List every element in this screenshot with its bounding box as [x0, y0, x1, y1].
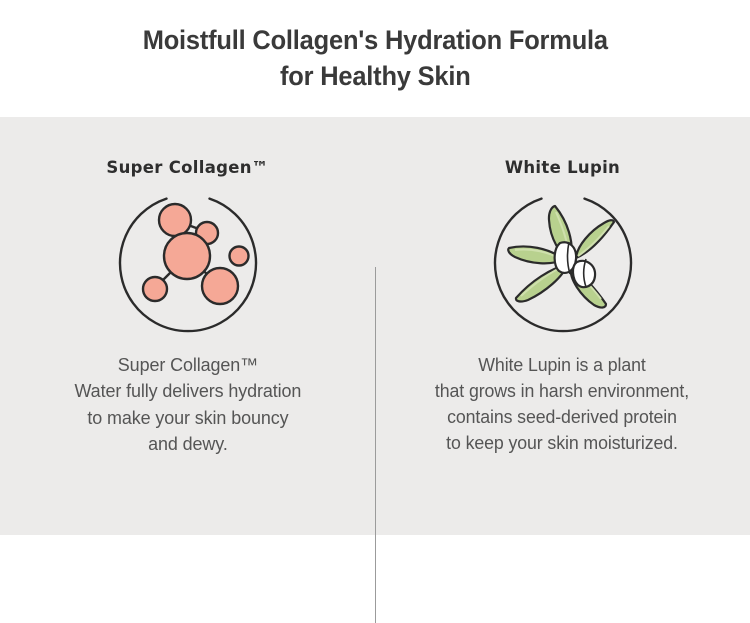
header-section: Moistfull Collagen's Hydration Formula f… [0, 0, 750, 117]
ingredient-caption-super-collagen: Super Collagen™ Water fully delivers hyd… [74, 336, 301, 457]
collagen-molecule-icon [108, 186, 268, 336]
white-lupin-plant-icon [483, 186, 643, 336]
ingredient-heading-white-lupin: White Lupin [505, 117, 620, 177]
ingredient-column-white-lupin: White Lupin [375, 117, 750, 535]
column-divider [375, 267, 376, 623]
ingredient-heading-super-collagen: Super Collagen™ [106, 117, 268, 177]
page-title: Moistfull Collagen's Hydration Formula f… [142, 23, 607, 93]
content-panel: Super Collagen™ [0, 117, 750, 535]
ingredient-column-super-collagen: Super Collagen™ [0, 117, 375, 535]
ingredient-infographic: Moistfull Collagen's Hydration Formula f… [0, 0, 750, 535]
ingredient-caption-white-lupin: White Lupin is a plant that grows in har… [435, 336, 689, 456]
